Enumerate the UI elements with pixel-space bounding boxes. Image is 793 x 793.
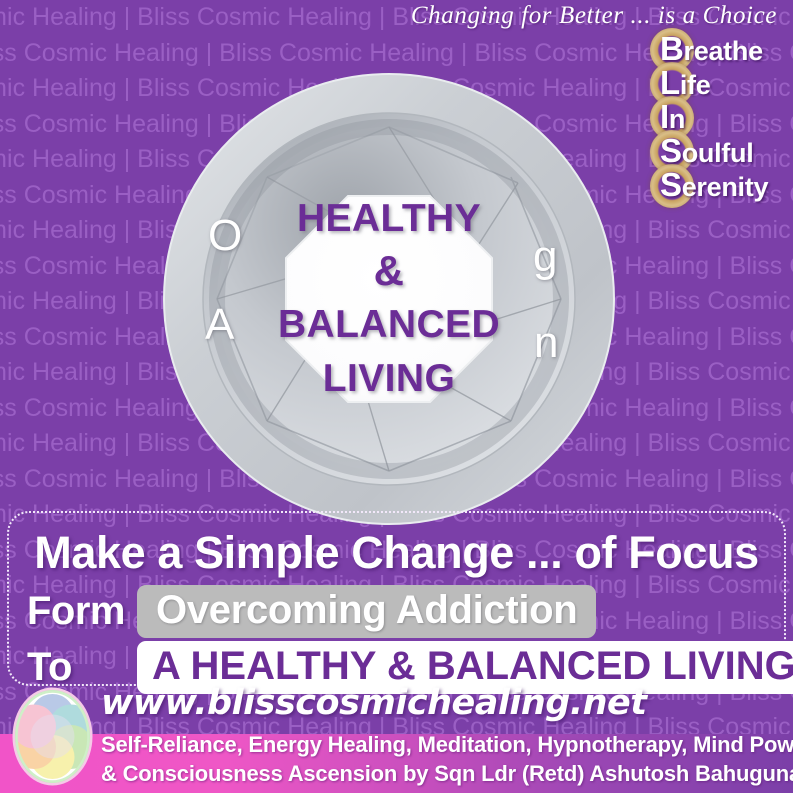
message-panel: Make a Simple Change ... of Focus Form O…: [7, 511, 786, 686]
services-line-1: Self-Reliance, Energy Healing, Meditatio…: [101, 732, 793, 758]
tagline: Changing for Better ... is a Choice: [411, 2, 777, 30]
bliss-row: Serenity: [650, 168, 793, 202]
bliss-row-text: Soulful: [650, 132, 753, 170]
bliss-row: Soulful: [650, 134, 793, 168]
poster-canvas: Bliss Cosmic Healing | Bliss Cosmic Heal…: [0, 0, 793, 793]
corner-letter-overcoming-start: O: [208, 211, 242, 261]
corner-letter-overcoming-end: g: [533, 232, 557, 282]
bliss-row-text: Breathe: [650, 30, 763, 68]
bliss-row: Life: [650, 66, 793, 100]
from-label: Form: [27, 589, 137, 634]
bliss-row-text: Serenity: [650, 166, 768, 204]
headline: Make a Simple Change ... of Focus: [9, 527, 784, 579]
website-url[interactable]: www.blisscosmichealing.net: [101, 683, 647, 723]
from-value-chip: Overcoming Addiction: [137, 585, 596, 638]
flower-of-life-logo-icon: [11, 686, 94, 787]
bliss-acronym: Breathe Life In Soulful Serenity: [650, 32, 793, 202]
bliss-row-text: In: [650, 98, 685, 136]
bliss-row: In: [650, 100, 793, 134]
from-row: Form Overcoming Addiction: [27, 585, 596, 638]
bliss-row-text: Life: [650, 64, 710, 102]
services-line-2: & Consciousness Ascension by Sqn Ldr (Re…: [101, 761, 793, 787]
footer: www.blisscosmichealing.net Self-Reliance…: [0, 680, 793, 793]
aperture-emblem-icon: [163, 73, 615, 525]
corner-letter-addiction-end: n: [534, 318, 558, 368]
corner-letter-addiction-start: A: [205, 300, 234, 350]
bliss-row: Breathe: [650, 32, 793, 66]
